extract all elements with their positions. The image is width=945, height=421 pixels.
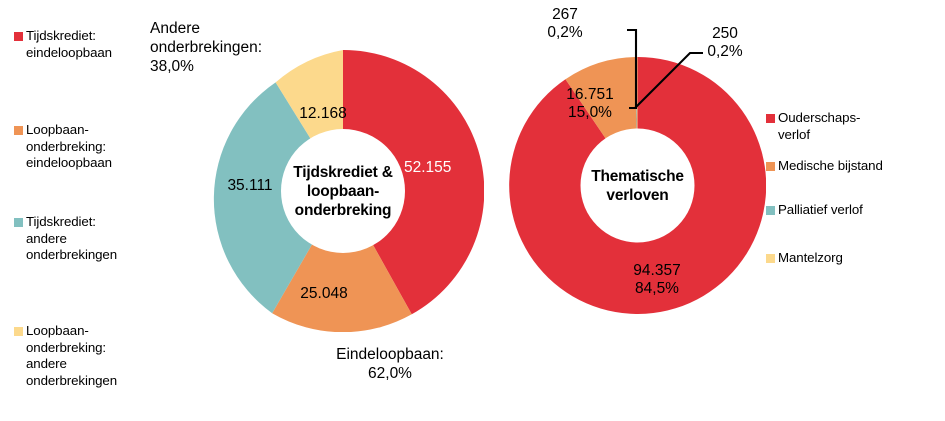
legend-item-label: Ouderschaps- verlof bbox=[778, 110, 860, 143]
legend-item-ouderschapsverlof[interactable]: Ouderschaps- verlof bbox=[766, 110, 860, 143]
value-label-loopbaanonderbreking-eindeloopbaan: 25.048 bbox=[288, 285, 360, 303]
legend-swatch-teal-icon bbox=[766, 206, 775, 215]
donut-hole bbox=[281, 129, 405, 253]
legend-swatch-teal-icon bbox=[14, 218, 23, 227]
value-label-tijdskrediet-eindeloopbaan: 52.155 bbox=[404, 159, 476, 177]
legend-swatch-yellow-icon bbox=[766, 254, 775, 263]
legend-item-palliatief-verlof[interactable]: Palliatief verlof bbox=[766, 202, 863, 219]
value-label-medische-bijstand: 16.751 15,0% bbox=[540, 86, 640, 122]
legend-item-label: Palliatief verlof bbox=[778, 202, 863, 219]
value-label-loopbaanonderbreking-andere: 12.168 bbox=[287, 105, 359, 123]
legend-item-label: Tijdskrediet: andere onderbrekingen bbox=[26, 214, 117, 264]
value-label-mantelzorg: 250 0,2% bbox=[685, 25, 765, 61]
legend-swatch-red-icon bbox=[14, 32, 23, 41]
annotation-eindeloopbaan: Eindeloopbaan: 62,0% bbox=[300, 345, 480, 383]
legend-item-label: Loopbaan- onderbreking: andere onderbrek… bbox=[26, 323, 117, 389]
legend-item-loopbaanonderbreking-eindeloopbaan[interactable]: Loopbaan- onderbreking: eindeloopbaan bbox=[14, 122, 112, 172]
legend-item-tijdskrediet-andere[interactable]: Tijdskrediet: andere onderbrekingen bbox=[14, 214, 117, 264]
value-label-palliatief-verlof: 267 0,2% bbox=[525, 6, 605, 42]
legend-item-tijdskrediet-eindeloopbaan[interactable]: Tijdskrediet: eindeloopbaan bbox=[14, 28, 112, 61]
legend-item-label: Loopbaan- onderbreking: eindeloopbaan bbox=[26, 122, 112, 172]
value-label-ouderschapsverlof: 94.357 84,5% bbox=[607, 262, 707, 298]
legend-item-medische-bijstand[interactable]: Medische bijstand bbox=[766, 158, 883, 175]
chart-canvas: Tijdskrediet: eindeloopbaan Loopbaan- on… bbox=[0, 0, 945, 421]
legend-item-loopbaanonderbreking-andere[interactable]: Loopbaan- onderbreking: andere onderbrek… bbox=[14, 323, 117, 389]
legend-swatch-orange-icon bbox=[766, 162, 775, 171]
legend-item-label: Medische bijstand bbox=[778, 158, 883, 175]
donut-hole bbox=[581, 129, 695, 243]
legend-swatch-yellow-icon bbox=[14, 327, 23, 336]
value-label-tijdskrediet-andere: 35.111 bbox=[214, 177, 286, 195]
legend-item-label: Mantelzorg bbox=[778, 250, 843, 267]
legend-item-label: Tijdskrediet: eindeloopbaan bbox=[26, 28, 112, 61]
legend-swatch-orange-icon bbox=[14, 126, 23, 135]
legend-swatch-red-icon bbox=[766, 114, 775, 123]
legend-item-mantelzorg[interactable]: Mantelzorg bbox=[766, 250, 843, 267]
